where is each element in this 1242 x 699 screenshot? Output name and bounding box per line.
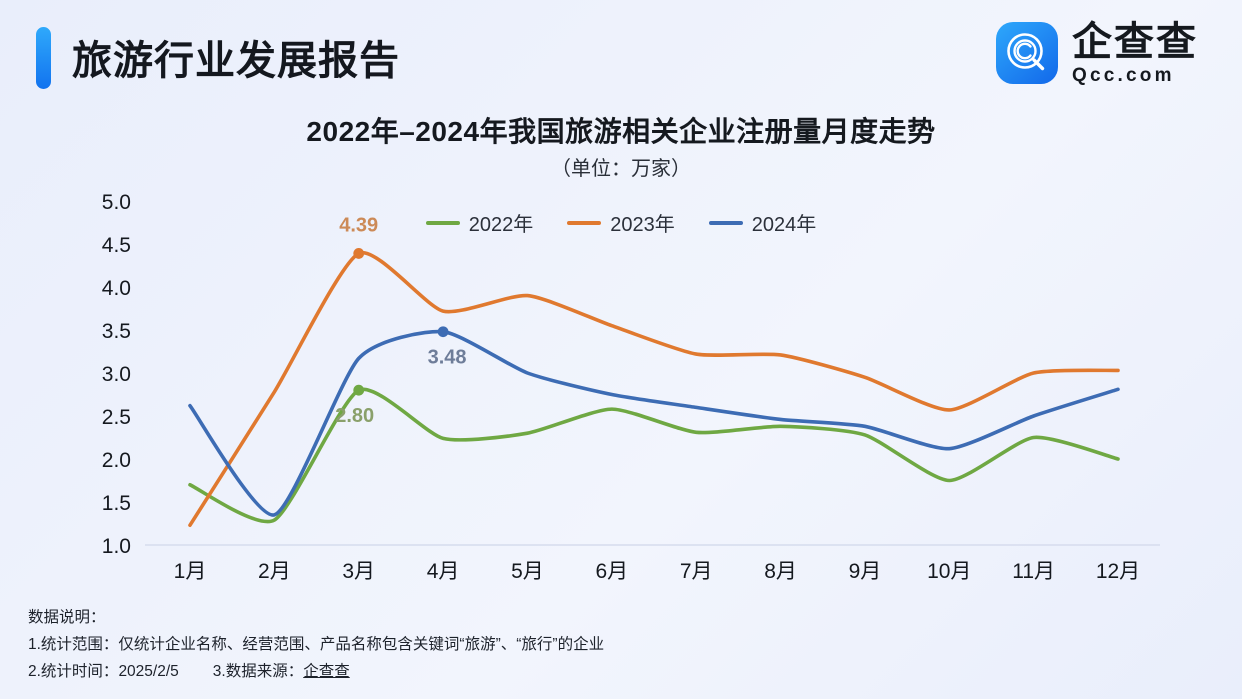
data-point-marker-4.39 xyxy=(353,248,364,259)
chart-subtitle: （单位：万家） xyxy=(0,152,1242,181)
logo-name-en: Qcc.com xyxy=(1072,66,1198,85)
legend-label: 2023年 xyxy=(610,208,675,237)
legend-item-2023年[interactable]: 2023年 xyxy=(567,208,675,237)
data-point-marker-2.80 xyxy=(353,385,364,396)
x-axis-tick-label: 7月 xyxy=(680,560,713,583)
legend-swatch-icon xyxy=(426,221,460,225)
data-point-label-2.80: 2.80 xyxy=(335,405,374,427)
x-axis-tick-label: 6月 xyxy=(595,560,628,583)
y-axis-tick-label: 4.5 xyxy=(102,234,131,257)
legend-label: 2024年 xyxy=(752,208,817,237)
line-chart-svg: 1.01.52.02.53.03.54.04.55.01月2月3月4月5月6月7… xyxy=(0,0,1242,699)
legend-item-2022年[interactable]: 2022年 xyxy=(426,208,534,237)
footer-note-time-source: 2.统计时间：2025/2/53.数据来源：企查查 xyxy=(28,658,1208,685)
y-axis-tick-label: 1.5 xyxy=(102,492,131,515)
legend-label: 2022年 xyxy=(469,208,534,237)
x-axis-tick-label: 1月 xyxy=(174,560,207,583)
logo-name-cn: 企查查 xyxy=(1072,22,1198,62)
y-axis-tick-label: 2.5 xyxy=(102,406,131,429)
footer-note-time-label: 2.统计时间： xyxy=(28,663,118,680)
x-axis-tick-label: 8月 xyxy=(764,560,797,583)
x-axis-tick-label: 5月 xyxy=(511,560,544,583)
y-axis-tick-label: 2.0 xyxy=(102,449,131,472)
footer-note-time-value: 2025/2/5 xyxy=(118,663,178,680)
y-axis-tick-label: 3.0 xyxy=(102,363,131,386)
logo-wordmark: 企查查 Qcc.com xyxy=(1072,22,1198,85)
x-axis-tick-label: 4月 xyxy=(427,560,460,583)
legend-swatch-icon xyxy=(709,221,743,225)
x-axis-tick-label: 9月 xyxy=(849,560,882,583)
page-title: 旅游行业发展报告 xyxy=(72,28,400,86)
data-point-label-3.48: 3.48 xyxy=(428,347,467,369)
qcc-q-logo-icon xyxy=(996,22,1058,84)
series-line-2022年 xyxy=(190,389,1118,521)
series-line-2023年 xyxy=(190,253,1118,526)
footer-note-source-label: 3.数据来源： xyxy=(213,663,303,680)
data-point-marker-3.48 xyxy=(438,326,449,337)
x-axis-tick-label: 11月 xyxy=(1012,560,1055,583)
y-axis-tick-label: 1.0 xyxy=(102,535,131,558)
x-axis-tick-label: 2月 xyxy=(258,560,291,583)
x-axis-tick-label: 12月 xyxy=(1096,560,1140,583)
footer-heading: 数据说明： xyxy=(28,605,1208,631)
legend-swatch-icon xyxy=(567,221,601,225)
legend-item-2024年[interactable]: 2024年 xyxy=(709,208,817,237)
x-axis-tick-label: 10月 xyxy=(927,560,971,583)
y-axis-tick-label: 3.5 xyxy=(102,320,131,343)
footer-note-source-value[interactable]: 企查查 xyxy=(303,663,350,680)
report-page: 旅游行业发展报告 企查查 Qcc.com 2022年–2024年我国旅游相关企业… xyxy=(0,0,1242,699)
y-axis-tick-label: 4.0 xyxy=(102,277,131,300)
chart-plot-area: 1.01.52.02.53.03.54.04.55.01月2月3月4月5月6月7… xyxy=(0,0,1242,699)
chart-legend: 2022年2023年2024年 xyxy=(0,208,1242,237)
x-axis-tick-label: 3月 xyxy=(342,560,375,583)
footer-note-scope: 1.统计范围：仅统计企业名称、经营范围、产品名称包含关键词“旅游”、“旅行”的企… xyxy=(28,631,1208,658)
footer-notes: 数据说明： 1.统计范围：仅统计企业名称、经营范围、产品名称包含关键词“旅游”、… xyxy=(28,605,1208,685)
title-accent-bar xyxy=(36,27,51,89)
qcc-logo: 企查查 Qcc.com xyxy=(996,22,1198,84)
chart-title: 2022年–2024年我国旅游相关企业注册量月度走势 xyxy=(0,110,1242,150)
series-line-2024年 xyxy=(190,332,1118,516)
page-header: 旅游行业发展报告 企查查 Qcc.com xyxy=(0,0,1242,104)
